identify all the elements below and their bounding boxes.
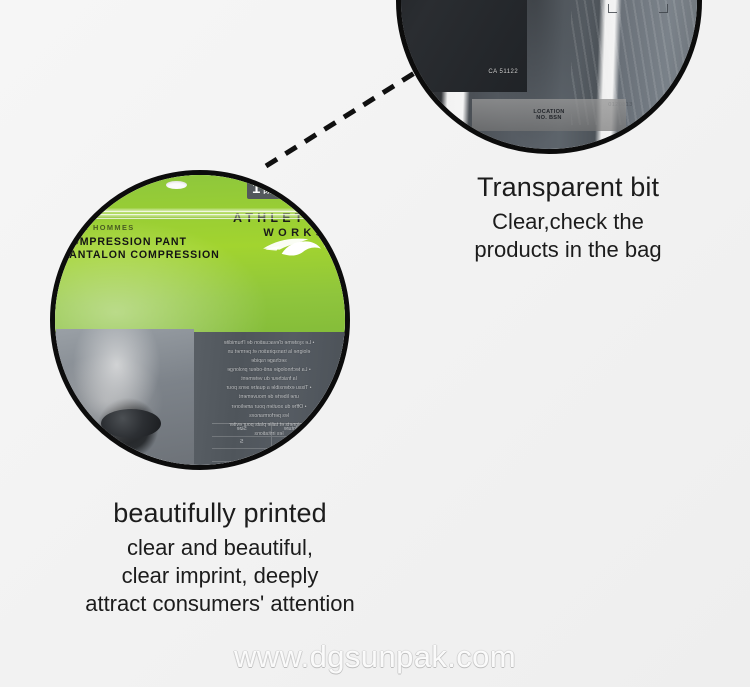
registration-mark-icon [659, 4, 668, 13]
caption-beautifully-printed: beautifully printed clear and beautiful,… [20, 498, 420, 617]
caption-transparent-bit: Transparent bit Clear,check the products… [418, 172, 718, 264]
back-copy-line: • Tissu extensible a quatre sens pour [197, 384, 341, 393]
back-copy-line: une liberte de mouvement [197, 393, 341, 402]
bag-green-panel: 1 PACK PAR PAQUET ATHLETIC WORKS [50, 170, 350, 332]
table-row: 28-30 in / po S [212, 437, 332, 450]
caption-line: Clear,check the [418, 208, 718, 236]
bag-clear-window-area: • Le systeme d'evacuation de l'humidite … [50, 332, 350, 470]
pack-count-badge: 1 PACK PAR PAQUET [247, 179, 311, 200]
caption-line: products in the bag [418, 236, 718, 264]
callout-transparent-window: ng ions: ld. Wash with like colours. mbl… [396, 0, 702, 154]
product-name-fr: PANTALON COMPRESSION [62, 249, 220, 261]
caption-title: beautifully printed [20, 498, 420, 528]
care-label-panel: ng ions: ld. Wash with like colours. mbl… [397, 0, 527, 92]
pack-label-fr: PAR PAQUET [263, 189, 305, 196]
athlete-photo [56, 329, 194, 467]
product-bag: 1 PACK PAR PAQUET ATHLETIC WORKS [50, 170, 350, 470]
product-feature-graphic: ng ions: ld. Wash with like colours. mbl… [0, 0, 750, 687]
back-copy-line: eloigne la transpiration et permet un [197, 348, 341, 357]
zipper-seal-band [50, 208, 350, 220]
back-copy-line: • Offre du soutien pour ameliorer [197, 403, 341, 412]
location-tag: LOCATION NO. BSN [472, 99, 626, 132]
callout-printed-bag: 1 PACK PAR PAQUET ATHLETIC WORKS [50, 170, 350, 470]
table-row: 71-76 cm [212, 449, 332, 462]
product-naming: MEN / HOMMES COMPRESSION PANT PANTALON C… [62, 223, 220, 261]
spec-cell: 71-76 cm [273, 449, 333, 461]
product-audience: MEN / HOMMES [62, 223, 220, 232]
site-watermark: www.dgsunpak.com [0, 639, 750, 675]
back-copy-line: • Le systeme d'evacuation de l'humidite [197, 339, 341, 348]
care-label-code: CA 51122 [488, 68, 518, 78]
back-copy-line: les performances [197, 412, 341, 421]
spec-cell: 28-30 in / po [273, 437, 333, 449]
spec-cell: Size [212, 424, 273, 436]
caption-line: clear imprint, deeply [20, 562, 420, 590]
spec-cell: Waist / Ceinture [273, 424, 333, 436]
hang-hole [166, 181, 187, 189]
pack-count-number: 1 [252, 181, 260, 196]
back-copy-line: la fraicheur du vetement [197, 375, 341, 384]
location-tag-line2: NO. BSN [536, 115, 561, 121]
caption-title: Transparent bit [418, 172, 718, 202]
registered-trademark-icon: ® [324, 244, 328, 250]
spec-cell [212, 449, 273, 461]
pack-label-en: PACK [263, 182, 305, 189]
back-copy-line: sechage rapide [197, 357, 341, 366]
table-row: Waist / Ceinture Size [212, 424, 332, 437]
size-spec-table: Waist / Ceinture Size 28-30 in / po S 71… [212, 423, 332, 462]
athletic-works-logo-icon [261, 231, 323, 261]
caption-line: clear and beautiful, [20, 534, 420, 562]
registration-mark-icon [608, 4, 617, 13]
back-copy-line: • La technologie anti-odeur prolonge [197, 366, 341, 375]
caption-line: attract consumers' attention [20, 590, 420, 618]
spec-cell: S [212, 437, 273, 449]
product-name-en: COMPRESSION PANT [62, 236, 220, 248]
